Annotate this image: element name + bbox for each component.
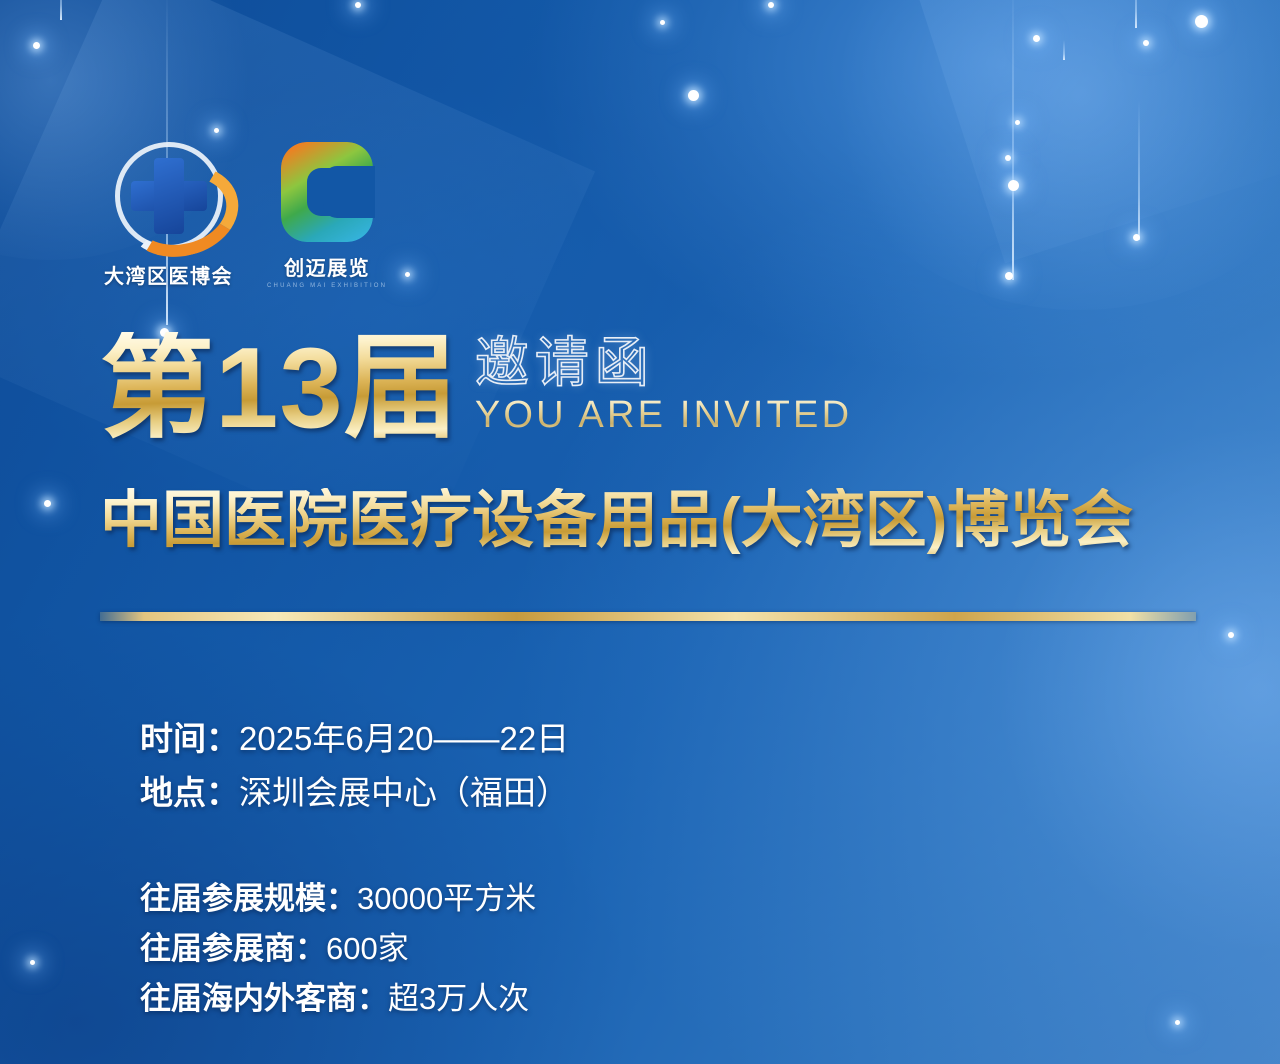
light-ray — [900, 0, 1280, 263]
event-info-block: 时间：2025年6月20——22日 地点：深圳会展中心（福田） — [140, 712, 569, 820]
sparkle-dot — [214, 128, 219, 133]
stat-visitors-value: 超3万人次 — [388, 981, 529, 1016]
invitation-chinese: 邀请函 — [475, 335, 852, 392]
event-info-venue-value: 深圳会展中心（福田） — [239, 774, 569, 811]
stat-exhibitors-value: 600家 — [326, 931, 409, 966]
logo-subtitle-chuangmai: CHUANG MAI EXHIBITION — [267, 283, 387, 289]
stat-exhibit-area-value: 30000平方米 — [357, 881, 536, 916]
invitation-english: YOU ARE INVITED — [475, 396, 852, 434]
gold-divider — [100, 612, 1196, 621]
logo-name-chuangmai: 创迈展览 — [284, 252, 370, 281]
logo-gba-medical-expo: 大湾区医博会 — [104, 142, 233, 289]
sparkle-dot — [30, 960, 35, 965]
invitation-block: 邀请函 YOU ARE INVITED — [475, 335, 852, 446]
sparkle-dot — [660, 20, 665, 25]
sparkle-dot — [1143, 40, 1149, 46]
glow-haze — [820, 0, 1280, 310]
medical-cross-circle-icon — [115, 142, 223, 250]
event-info-venue: 地点：深圳会展中心（福田） — [140, 766, 569, 820]
sparkle-dot — [1195, 15, 1208, 28]
event-info-time: 时间：2025年6月20——22日 — [140, 712, 569, 766]
edition-number: 第13届 — [100, 332, 459, 446]
sparkle-dot — [44, 500, 51, 507]
stat-exhibitors-label: 往届参展商： — [140, 931, 326, 966]
sparkle-dot — [1175, 1020, 1180, 1025]
falling-light-streak — [1063, 40, 1065, 60]
sparkle-dot — [1228, 632, 1234, 638]
stat-exhibit-area-label: 往届参展规模： — [140, 881, 357, 916]
letter-c-gradient-icon — [281, 142, 373, 242]
sparkle-dot — [1033, 35, 1040, 42]
falling-light-streak — [1138, 100, 1140, 240]
event-info-venue-label: 地点： — [140, 774, 239, 811]
logo-chuangmai-exhibition: 创迈展览 CHUANG MAI EXHIBITION — [267, 142, 387, 289]
sparkle-dot — [1005, 155, 1011, 161]
sparkle-dot — [688, 90, 699, 101]
sparkle-dot — [405, 272, 410, 277]
sparkle-dot — [33, 42, 40, 49]
sparkle-dot — [1008, 180, 1019, 191]
falling-light-streak — [1012, 0, 1014, 280]
event-info-time-label: 时间： — [140, 720, 239, 757]
sparkle-dot — [355, 2, 361, 8]
c-notch-cutout — [323, 166, 375, 218]
sparkle-dot — [1133, 234, 1140, 241]
sparkle-dot — [1015, 120, 1020, 125]
sparkle-dot — [768, 2, 774, 8]
falling-light-streak — [1135, 0, 1137, 28]
logo-name-gba: 大湾区医博会 — [104, 260, 233, 289]
headline-row: 第13届 邀请函 YOU ARE INVITED — [100, 332, 852, 446]
logo-row: 大湾区医博会 创迈展览 CHUANG MAI EXHIBITION — [104, 142, 387, 289]
falling-light-streak — [60, 0, 62, 20]
invitation-poster: 大湾区医博会 创迈展览 CHUANG MAI EXHIBITION 第13届 邀… — [0, 0, 1280, 1064]
stat-exhibitors: 往届参展商：600家 — [140, 924, 536, 974]
stat-exhibit-area: 往届参展规模：30000平方米 — [140, 874, 536, 924]
event-info-time-value: 2025年6月20——22日 — [239, 720, 569, 757]
stat-visitors: 往届海内外客商：超3万人次 — [140, 974, 536, 1024]
past-stats-block: 往届参展规模：30000平方米 往届参展商：600家 往届海内外客商：超3万人次 — [140, 874, 536, 1024]
sparkle-dot — [1005, 272, 1013, 280]
stat-visitors-label: 往届海内外客商： — [140, 981, 388, 1016]
page-title: 中国医院医疗设备用品(大湾区)博览会 — [100, 488, 1133, 555]
